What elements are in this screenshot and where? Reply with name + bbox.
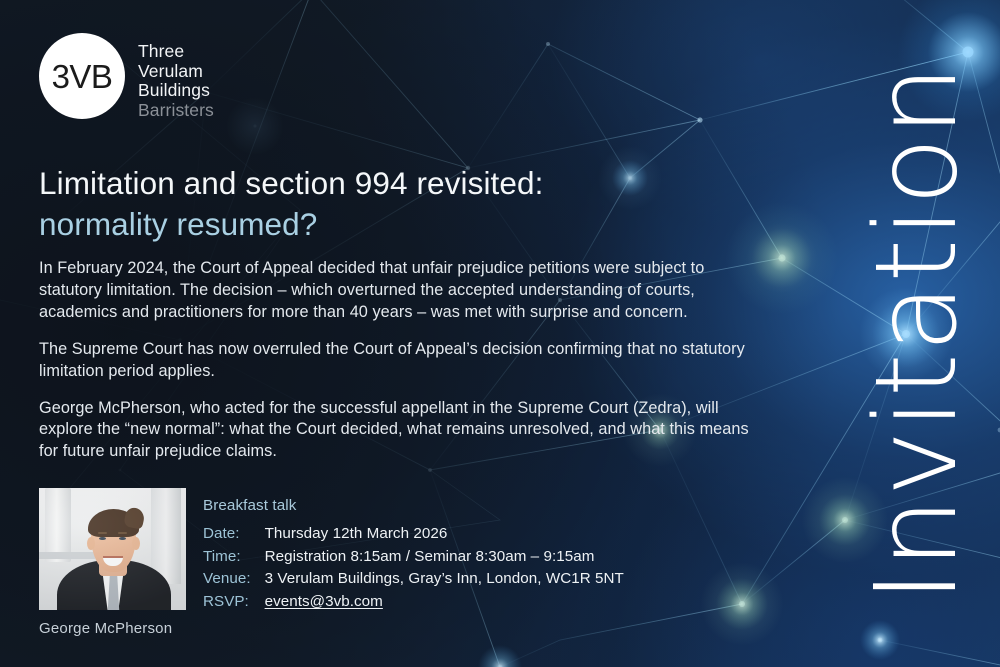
- paragraph-2: The Supreme Court has now overruled the …: [39, 339, 751, 383]
- event-details: Breakfast talk Date: Thursday 12th March…: [203, 497, 624, 615]
- detail-label-rsvp: RSVP:: [203, 592, 265, 615]
- brand-logo: 3VB Three Verulam Buildings Barristers: [39, 33, 214, 120]
- logo-line-barristers: Barristers: [138, 101, 214, 121]
- event-details-table: Date: Thursday 12th March 2026 Time: Reg…: [203, 524, 624, 615]
- table-row: Venue: 3 Verulam Buildings, Gray’s Inn, …: [203, 569, 624, 592]
- logo-line-three: Three: [138, 42, 214, 62]
- detail-label-venue: Venue:: [203, 569, 265, 592]
- invitation-poster: 3VB Three Verulam Buildings Barristers L…: [0, 0, 1000, 667]
- event-type-label: Breakfast talk: [203, 497, 624, 514]
- paragraph-1: In February 2024, the Court of Appeal de…: [39, 258, 751, 324]
- paragraph-3: George McPherson, who acted for the succ…: [39, 398, 751, 464]
- speaker-name: George McPherson: [39, 620, 186, 637]
- body-text: In February 2024, the Court of Appeal de…: [39, 258, 751, 463]
- detail-label-date: Date:: [203, 524, 265, 547]
- detail-value-date: Thursday 12th March 2026: [265, 524, 624, 547]
- table-row: Time: Registration 8:15am / Seminar 8:30…: [203, 547, 624, 570]
- detail-label-time: Time:: [203, 547, 265, 570]
- page-title: Limitation and section 994 revisited: no…: [39, 163, 739, 246]
- logo-wordmark: Three Verulam Buildings Barristers: [138, 42, 214, 120]
- logo-mark-text: 3VB: [52, 60, 113, 93]
- logo-line-verulam: Verulam: [138, 62, 214, 82]
- title-line-subtitle: normality resumed?: [39, 204, 739, 246]
- detail-value-time: Registration 8:15am / Seminar 8:30am – 9…: [265, 547, 624, 570]
- speaker-block: George McPherson: [39, 488, 186, 637]
- detail-value-venue: 3 Verulam Buildings, Gray’s Inn, London,…: [265, 569, 624, 592]
- title-line-primary: Limitation and section 994 revisited:: [39, 163, 739, 204]
- avatar: [39, 488, 186, 610]
- table-row: RSVP: events@3vb.com: [203, 592, 624, 615]
- rsvp-email-link[interactable]: events@3vb.com: [265, 593, 383, 610]
- logo-line-buildings: Buildings: [138, 81, 214, 101]
- logo-circle-mark: 3VB: [39, 33, 125, 119]
- table-row: Date: Thursday 12th March 2026: [203, 524, 624, 547]
